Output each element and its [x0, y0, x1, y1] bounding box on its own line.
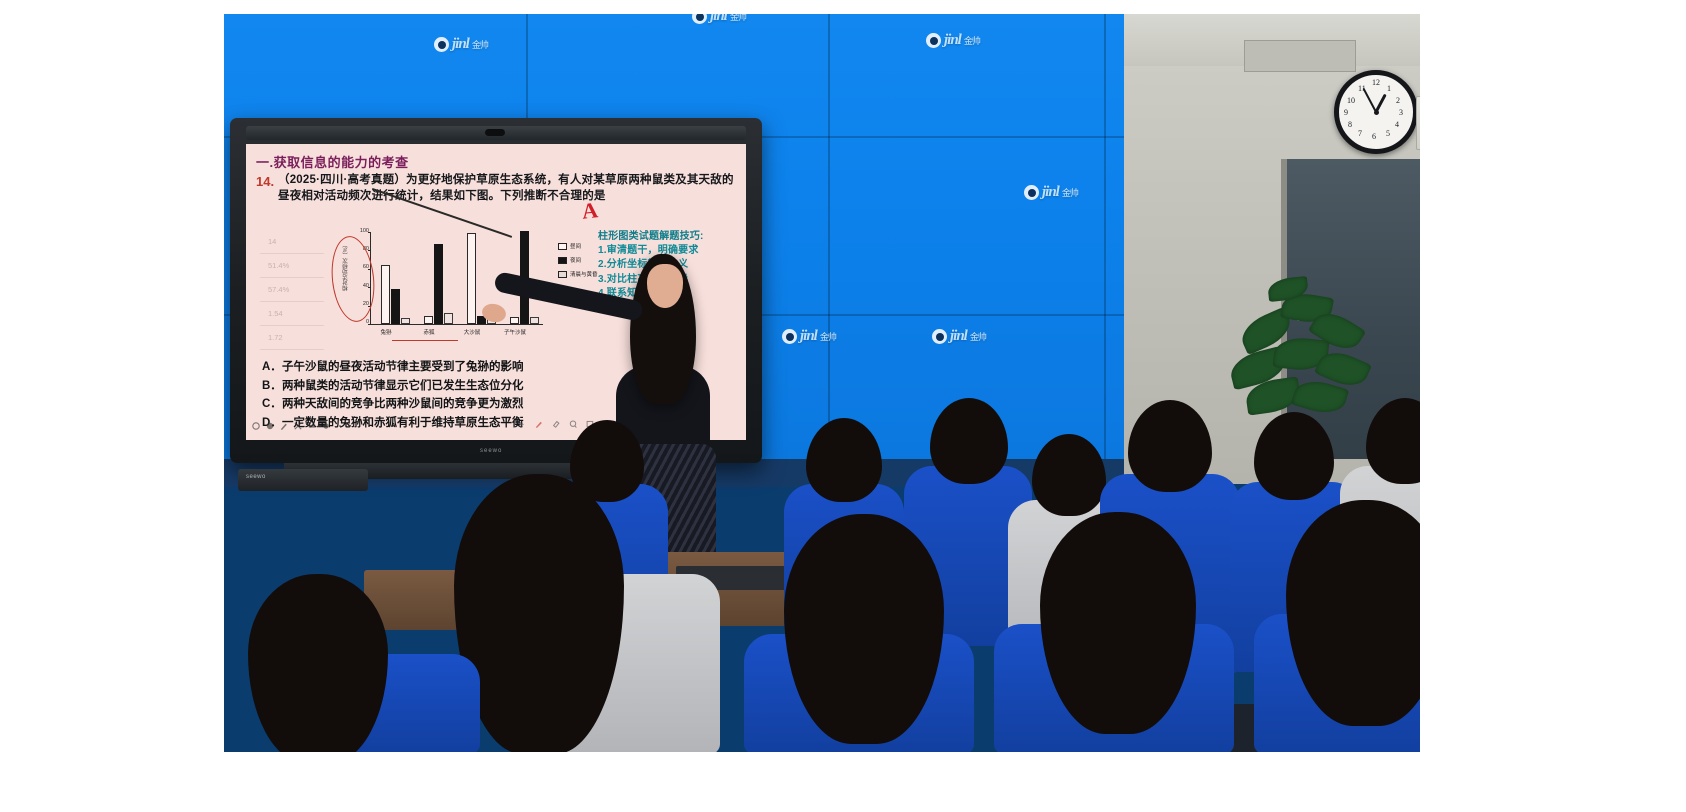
- lasso-icon[interactable]: [569, 420, 577, 428]
- pen-icon[interactable]: [280, 422, 288, 430]
- option-b: B．两种鼠类的活动节律显示它们已发生生态位分化: [262, 377, 524, 396]
- legend-item: 昼间: [558, 242, 598, 250]
- student-head: [1040, 512, 1196, 734]
- bar-day: [467, 233, 476, 324]
- potted-plant: [1224, 276, 1374, 426]
- cursor-icon[interactable]: [518, 420, 526, 428]
- bar-dawn: [530, 317, 539, 324]
- bar-dawn: [401, 318, 410, 324]
- option-key: C．: [262, 395, 282, 414]
- more-icon[interactable]: [336, 422, 344, 430]
- legend-label: 夜间: [570, 256, 581, 264]
- clock-minute-hand: [1362, 88, 1376, 113]
- bar-group: [424, 232, 453, 324]
- student-head: [784, 514, 944, 744]
- video-wall-seam: [828, 14, 830, 459]
- board-toolbar-left[interactable]: [252, 422, 344, 430]
- bar-day: [424, 316, 433, 324]
- legend-label: 清晨与黄昏: [570, 270, 598, 278]
- bar-night: [391, 289, 400, 324]
- bar-day: [510, 317, 519, 324]
- background-table: 14 51.4% 57.4% 1.54 1.72: [260, 230, 324, 346]
- move-icon[interactable]: [294, 422, 302, 430]
- bar-day: [381, 265, 390, 324]
- x-tick-label: 大沙鼠: [453, 328, 491, 336]
- tips-heading: 柱形图类试题解题技巧:: [598, 230, 746, 244]
- wall-vent: [1244, 40, 1356, 72]
- eraser-icon[interactable]: [308, 422, 316, 430]
- video-wall-seam: [1104, 14, 1106, 459]
- board-brand-label: seewo: [480, 448, 502, 454]
- board-camera-icon: [485, 129, 505, 136]
- pen-icon[interactable]: [535, 420, 543, 428]
- wall-clock: 12 1 2 3 4 5 6 7 8 9 10 11: [1334, 70, 1418, 154]
- table-row: 1.72: [260, 326, 324, 350]
- bar-group: [381, 232, 410, 324]
- clock-center: [1374, 110, 1379, 115]
- x-tick-label: 子午沙鼠: [496, 328, 534, 336]
- board-control-box: seewo: [238, 469, 368, 491]
- undo-icon[interactable]: [252, 422, 260, 430]
- board-foot-label: seewo: [246, 474, 266, 480]
- table-row: 51.4%: [260, 254, 324, 278]
- annotation-letter: A: [581, 197, 600, 225]
- chart-legend: 昼间 夜间 清晨与黄昏: [558, 242, 598, 284]
- redo-icon[interactable]: [266, 422, 274, 430]
- table-row: 1.54: [260, 302, 324, 326]
- table-row: 57.4%: [260, 278, 324, 302]
- palette-icon[interactable]: [322, 422, 330, 430]
- annotation-underline: [392, 340, 458, 341]
- slide-section-title: 一.获取信息的能力的考查: [256, 152, 409, 171]
- student-head: [248, 574, 388, 752]
- option-text: 两种鼠类的活动节律显示它们已发生生态位分化: [282, 380, 524, 392]
- classroom-photo: jinl 金帅 jinl 金帅 jinl 金帅 jinl 金帅 jinl 金帅 …: [224, 14, 1420, 752]
- legend-item: 夜间: [558, 256, 598, 264]
- bar-dawn: [444, 313, 453, 324]
- y-tick: 100: [357, 228, 369, 234]
- eraser-icon[interactable]: [552, 420, 560, 428]
- table-row: 14: [260, 230, 324, 254]
- legend-item: 清晨与黄昏: [558, 270, 598, 278]
- option-key: A．: [262, 358, 282, 377]
- option-text: 子午沙鼠的昼夜活动节律主要受到了兔狲的影响: [282, 361, 524, 373]
- x-tick-label: 赤狐: [410, 328, 448, 336]
- option-a: A．子午沙鼠的昼夜活动节律主要受到了兔狲的影响: [262, 358, 524, 377]
- screenshot-root: jinl 金帅 jinl 金帅 jinl 金帅 jinl 金帅 jinl 金帅 …: [0, 0, 1686, 812]
- wall-speaker: [1416, 96, 1420, 150]
- x-tick-label: 兔狲: [367, 328, 405, 336]
- question-number: 14.: [256, 174, 274, 189]
- question-text: （2025·四川·高考真题）为更好地保护草原生态系统，有人对某草原两种鼠类及其天…: [278, 173, 738, 205]
- bar-night: [434, 244, 443, 324]
- legend-label: 昼间: [570, 242, 581, 250]
- option-c: C．两种天敌间的竞争比两种沙鼠间的竞争更为激烈: [262, 395, 524, 414]
- option-key: B．: [262, 377, 282, 396]
- option-text: 两种天敌间的竞争比两种沙鼠间的竞争更为激烈: [282, 398, 524, 410]
